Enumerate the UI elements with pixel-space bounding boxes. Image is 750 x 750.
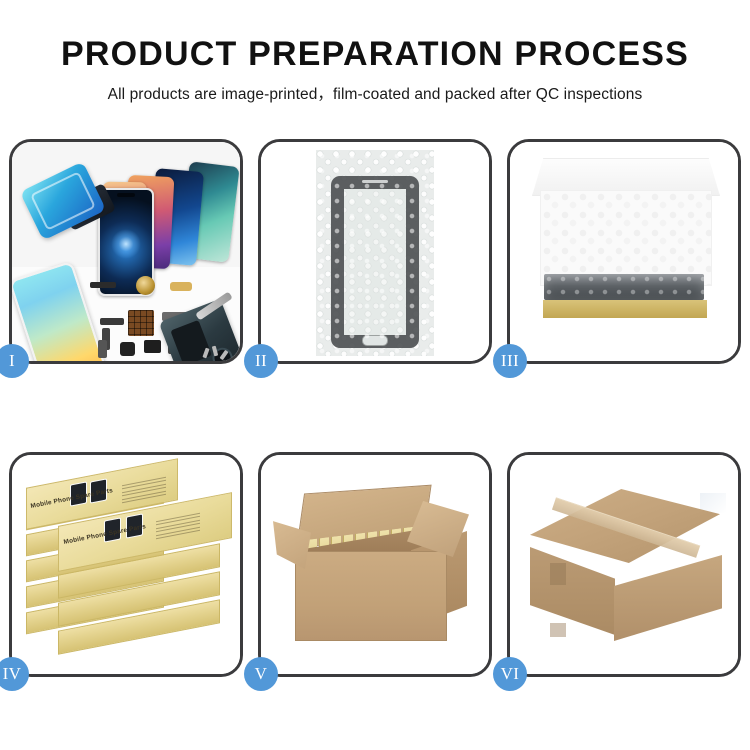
process-step-3: III bbox=[507, 139, 741, 364]
process-step-grid: I II bbox=[9, 139, 741, 677]
flex-cable-gold bbox=[170, 282, 192, 291]
screws-group bbox=[204, 346, 230, 361]
glass-speaker-slot bbox=[362, 180, 388, 183]
process-step-1: I bbox=[9, 139, 243, 364]
speaker-mesh-part bbox=[90, 282, 116, 288]
phone-glass-panel bbox=[331, 176, 419, 348]
flex-cable-black bbox=[100, 318, 124, 325]
screw-icon bbox=[219, 350, 228, 360]
step-2-image bbox=[261, 142, 489, 361]
product-preparation-infographic: PRODUCT PREPARATION PROCESS All products… bbox=[0, 0, 750, 750]
step-3-image bbox=[510, 142, 738, 361]
header: PRODUCT PREPARATION PROCESS All products… bbox=[0, 34, 750, 106]
step-1-image bbox=[12, 142, 240, 361]
step-badge-3: III bbox=[493, 344, 527, 378]
carton-front-panel bbox=[295, 551, 447, 641]
step-5-image bbox=[261, 455, 489, 674]
process-step-2: II bbox=[258, 139, 492, 364]
sim-tray-part bbox=[98, 340, 107, 358]
screw-icon bbox=[212, 346, 218, 357]
wrapped-screen-in-box bbox=[544, 274, 704, 300]
bubble-wrap-sheet bbox=[316, 150, 434, 356]
screen-notch bbox=[117, 193, 135, 197]
step-badge-2: II bbox=[244, 344, 278, 378]
carton-corner-mark bbox=[550, 623, 566, 637]
page-subtitle: All products are image-printed，film-coat… bbox=[0, 84, 750, 106]
carton-handle-notch bbox=[550, 563, 566, 585]
process-step-4: Mobile Phone Spare Parts Mobile Phone Sp… bbox=[9, 452, 243, 677]
ic-chip-grid-part bbox=[128, 310, 154, 336]
process-step-5: V bbox=[258, 452, 492, 677]
earpiece-part bbox=[120, 342, 135, 356]
step-badge-6: VI bbox=[493, 657, 527, 691]
step-4-image: Mobile Phone Spare Parts Mobile Phone Sp… bbox=[12, 455, 240, 674]
inner-box-tray-front bbox=[543, 300, 707, 318]
carton-highlight bbox=[700, 493, 726, 513]
foam-insert bbox=[540, 190, 712, 286]
step-badge-1: I bbox=[0, 344, 29, 378]
speaker-coil-part bbox=[136, 276, 155, 295]
camera-module-part bbox=[144, 340, 161, 353]
screw-icon bbox=[202, 348, 209, 359]
process-step-6: VI bbox=[507, 452, 741, 677]
step-6-image bbox=[510, 455, 738, 674]
step-badge-4: IV bbox=[0, 657, 29, 691]
step-badge-5: V bbox=[244, 657, 278, 691]
page-title: PRODUCT PREPARATION PROCESS bbox=[0, 34, 750, 74]
inner-box-stack: Mobile Phone Spare Parts Mobile Phone Sp… bbox=[18, 469, 234, 665]
